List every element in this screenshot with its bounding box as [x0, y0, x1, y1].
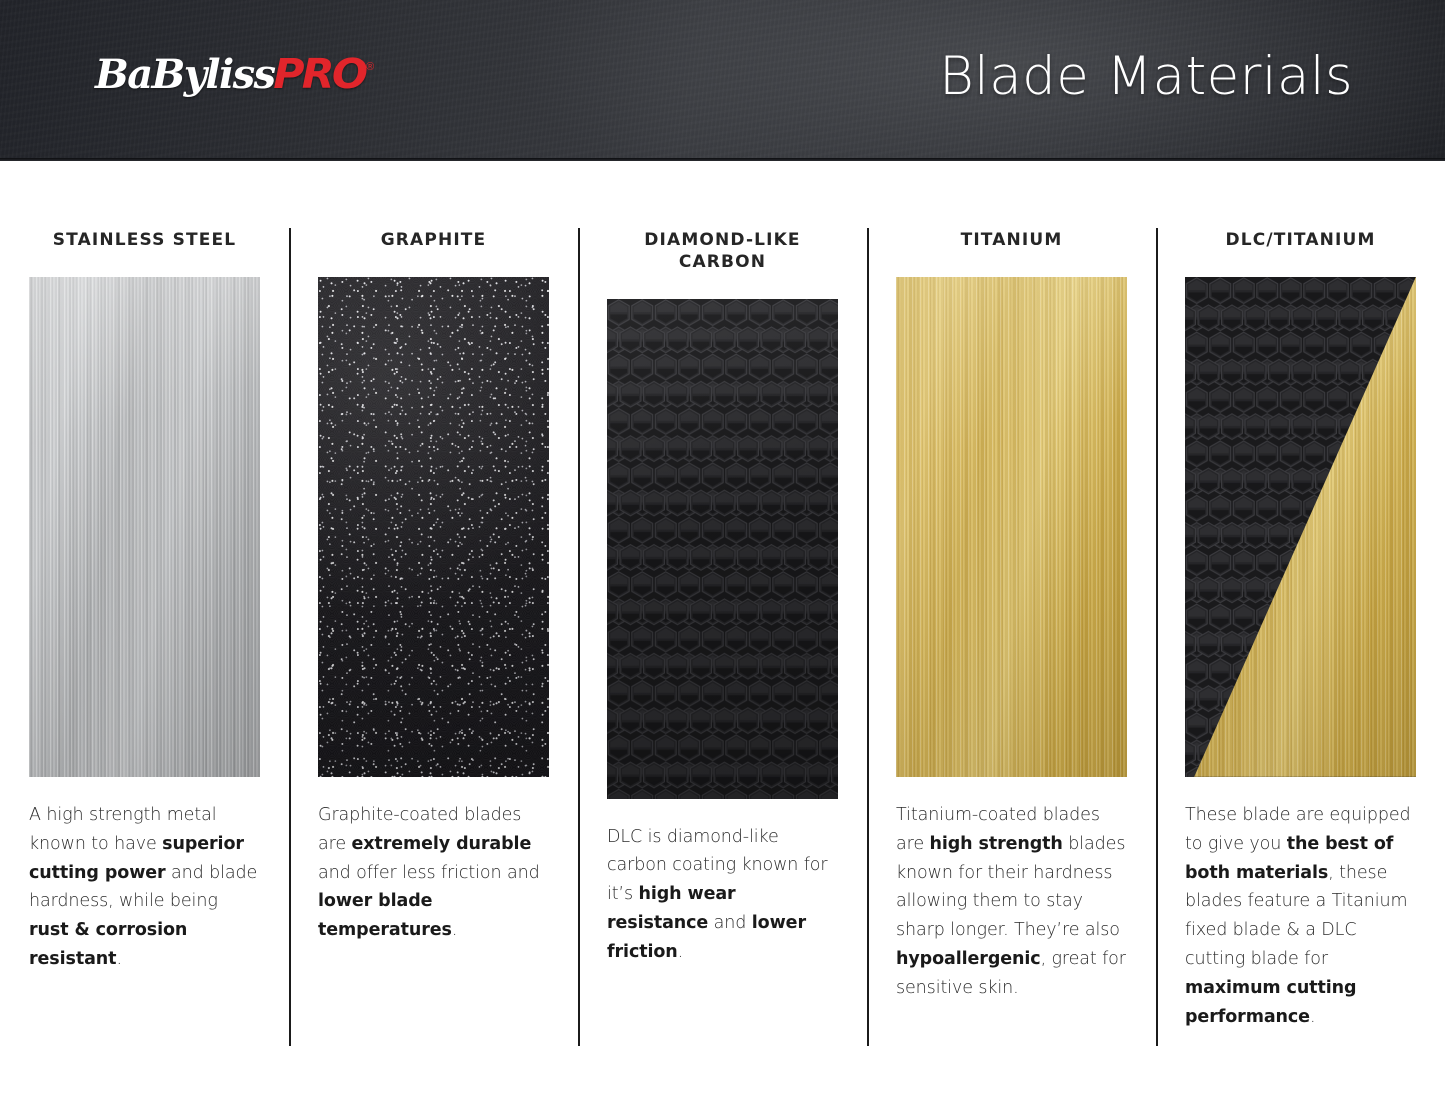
material-swatch-diamond-like-carbon — [607, 299, 838, 799]
material-swatch-graphite — [318, 277, 549, 777]
registered-trademark-icon: ® — [366, 62, 374, 73]
column-divider-3 — [867, 228, 869, 1046]
material-description-titanium: Titanium-coated blades are high strength… — [896, 801, 1127, 1003]
material-column-dlc-titanium: DLC/TITANIUM These blade are equipped to… — [1156, 160, 1445, 1113]
material-header-titanium: TITANIUM — [877, 230, 1146, 252]
material-header-graphite: GRAPHITE — [299, 230, 568, 252]
brand-logo-babyliss: BaByliss — [95, 55, 274, 95]
graphite-texture — [318, 277, 549, 777]
dlc-titanium-split-texture — [1185, 277, 1416, 777]
column-divider-4 — [1156, 228, 1158, 1046]
material-swatch-stainless-steel — [29, 277, 260, 777]
stainless-steel-texture — [29, 277, 260, 777]
material-column-diamond-like-carbon: DIAMOND-LIKECARBON — [578, 160, 867, 1113]
material-description-diamond-like-carbon: DLC is diamond-like carbon coating known… — [607, 823, 838, 967]
material-header-stainless-steel: STAINLESS STEEL — [10, 230, 279, 252]
column-divider-2 — [578, 228, 580, 1046]
page-title: Blade Materials — [939, 44, 1353, 110]
dlc-honeycomb-texture — [607, 299, 838, 799]
materials-grid: STAINLESS STEEL A high strength metal kn… — [0, 160, 1445, 1113]
material-swatch-titanium — [896, 277, 1127, 777]
material-swatch-dlc-titanium — [1185, 277, 1416, 777]
header-bar: BaBylissPRO® Blade Materials — [0, 0, 1445, 160]
material-description-graphite: Graphite-coated blades are extremely dur… — [318, 801, 549, 945]
brand-logo-pro: PRO — [274, 54, 366, 95]
material-column-titanium: TITANIUM Titanium-coated blades are high… — [867, 160, 1156, 1113]
material-header-dlc-titanium: DLC/TITANIUM — [1166, 230, 1435, 252]
titanium-gold-texture — [896, 277, 1127, 777]
brand-logo: BaBylissPRO® — [95, 54, 372, 95]
material-description-dlc-titanium: These blade are equipped to give you the… — [1185, 801, 1416, 1032]
material-header-diamond-like-carbon: DIAMOND-LIKECARBON — [588, 230, 857, 274]
material-column-graphite: GRAPHITE Graphite-coated blades are extr… — [289, 160, 578, 1113]
honeycomb-pattern-icon — [607, 299, 838, 799]
material-description-stainless-steel: A high strength metal known to have supe… — [29, 801, 260, 974]
column-divider-1 — [289, 228, 291, 1046]
material-column-stainless-steel: STAINLESS STEEL A high strength metal kn… — [0, 160, 289, 1113]
